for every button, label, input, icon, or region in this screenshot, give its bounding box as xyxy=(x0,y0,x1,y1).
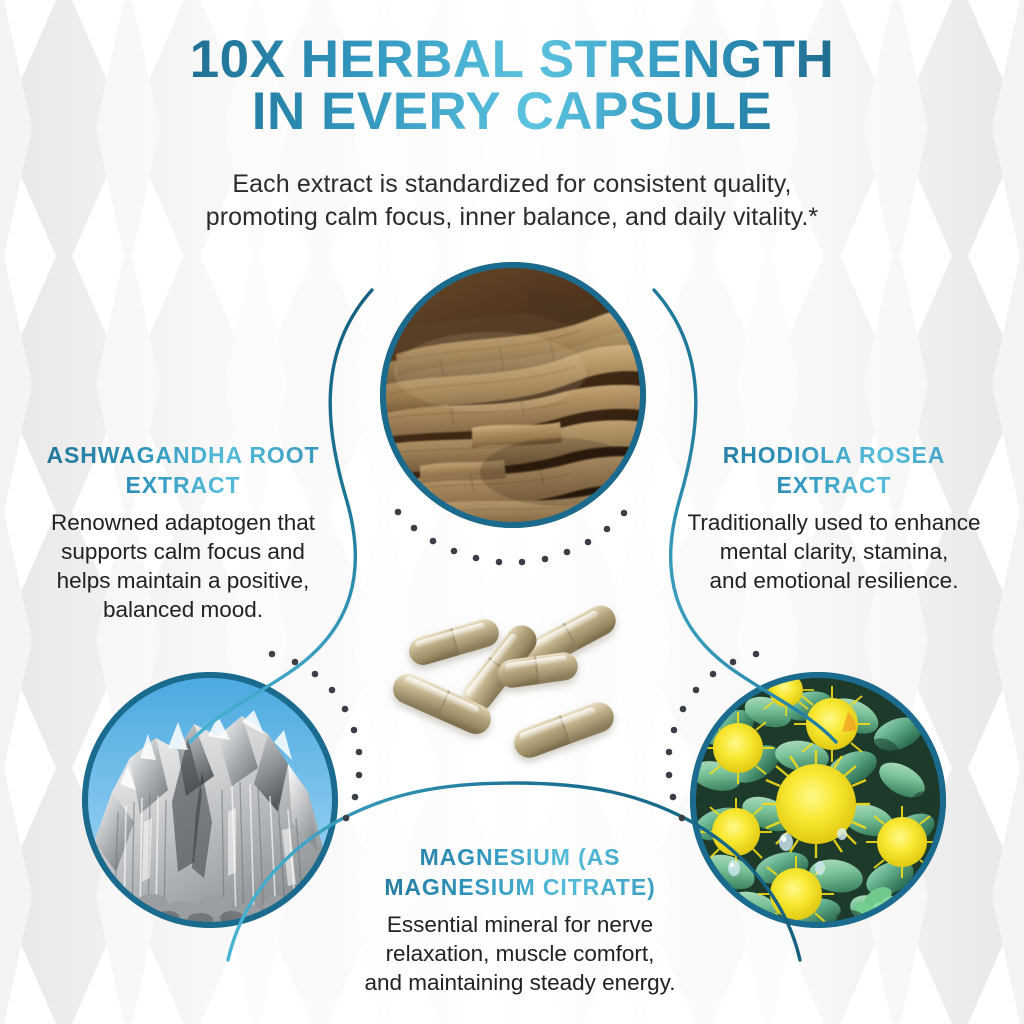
ingredient-title-line-1: ASHWAGANDHA ROOT xyxy=(8,440,358,470)
ingredient-title-line-2: EXTRACT xyxy=(8,470,358,500)
ashwagandha-root-photo xyxy=(380,262,646,528)
ingredient-title-ashwagandha: ASHWAGANDHA ROOT EXTRACT xyxy=(8,440,358,500)
ingredient-title-line-1: RHODIOLA ROSEA xyxy=(648,440,1020,470)
ingredient-body-line-2: supports calm focus and xyxy=(8,537,358,566)
page-subtitle-line-2: promoting calm focus, inner balance, and… xyxy=(0,201,1024,234)
page-subtitle-line-1: Each extract is standardized for consist… xyxy=(0,168,1024,201)
ingredient-title-line-2: MAGNESIUM CITRATE) xyxy=(320,872,720,902)
ingredient-title-rhodiola: RHODIOLA ROSEA EXTRACT xyxy=(648,440,1020,500)
ingredient-body-line-3: and maintaining steady energy. xyxy=(320,968,720,997)
rhodiola-rosea-photo xyxy=(690,672,946,928)
capsules-photo xyxy=(372,592,644,772)
capsules-image xyxy=(372,592,644,772)
ingredient-title-line-1: MAGNESIUM (AS xyxy=(320,842,720,872)
ingredient-body-line-1: Essential mineral for nerve xyxy=(320,910,720,939)
ingredient-title-line-2: EXTRACT xyxy=(648,470,1020,500)
ingredient-body-ashwagandha: Renowned adaptogen that supports calm fo… xyxy=(8,508,358,624)
ingredient-body-line-3: and emotional resilience. xyxy=(648,566,1020,595)
page-title-line-1: 10X HERBAL STRENGTH xyxy=(0,34,1024,86)
ingredient-block-rhodiola: RHODIOLA ROSEA EXTRACT Traditionally use… xyxy=(648,440,1020,595)
page-subtitle: Each extract is standardized for consist… xyxy=(0,168,1024,234)
ingredient-body-line-4: balanced mood. xyxy=(8,595,358,624)
magnesium-crystal-image xyxy=(82,672,338,928)
ingredient-block-ashwagandha: ASHWAGANDHA ROOT EXTRACT Renowned adapto… xyxy=(8,440,358,624)
ingredient-body-line-2: mental clarity, stamina, xyxy=(648,537,1020,566)
rhodiola-rosea-image xyxy=(690,672,946,928)
ingredient-body-magnesium: Essential mineral for nerve relaxation, … xyxy=(320,910,720,997)
ingredient-body-line-1: Renowned adaptogen that xyxy=(8,508,358,537)
ashwagandha-root-image xyxy=(380,262,646,528)
ingredient-block-magnesium: MAGNESIUM (AS MAGNESIUM CITRATE) Essenti… xyxy=(320,842,720,997)
ingredient-body-line-1: Traditionally used to enhance xyxy=(648,508,1020,537)
magnesium-crystal-photo xyxy=(82,672,338,928)
ingredient-body-line-2: relaxation, muscle comfort, xyxy=(320,939,720,968)
page-title-line-2: IN EVERY CAPSULE xyxy=(0,86,1024,138)
ingredient-body-line-3: helps maintain a positive, xyxy=(8,566,358,595)
ingredient-title-magnesium: MAGNESIUM (AS MAGNESIUM CITRATE) xyxy=(320,842,720,902)
page-title: 10X HERBAL STRENGTH IN EVERY CAPSULE xyxy=(0,34,1024,138)
ingredient-body-rhodiola: Traditionally used to enhance mental cla… xyxy=(648,508,1020,595)
